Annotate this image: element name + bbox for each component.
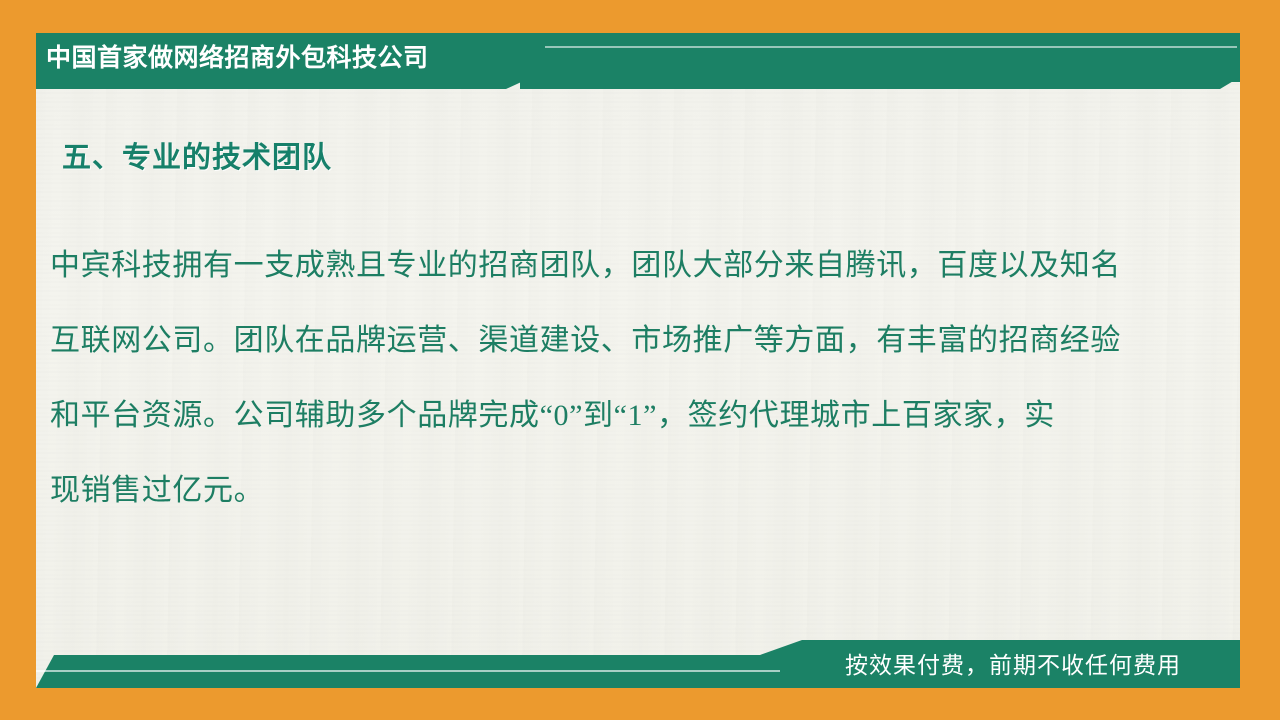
footer-divider-line [36, 670, 780, 672]
header-banner-text: 中国首家做网络招商外包科技公司 [46, 37, 476, 79]
header-banner-right-wedge [520, 33, 1240, 89]
body-line: 互联网公司。团队在品牌运营、渠道建设、市场推广等方面，有丰富的招商经验 [50, 303, 1185, 378]
presentation-slide: 中国首家做网络招商外包科技公司 五、专业的技术团队 中宾科技拥有一支成熟且专业的… [0, 0, 1280, 720]
body-line: 现销售过亿元。 [50, 453, 1185, 528]
slide-heading: 五、专业的技术团队 [62, 134, 332, 176]
slide-body-text: 中宾科技拥有一支成熟且专业的招商团队，团队大部分来自腾讯，百度以及知名 互联网公… [50, 228, 1185, 528]
body-line: 和平台资源。公司辅助多个品牌完成“0”到“1”，签约代理城市上百家家，实 [50, 378, 1185, 453]
footer-tagline: 按效果付费，前期不收任何费用 [845, 645, 1225, 685]
body-line: 中宾科技拥有一支成熟且专业的招商团队，团队大部分来自腾讯，百度以及知名 [50, 228, 1185, 303]
header-divider-line [545, 46, 1237, 48]
